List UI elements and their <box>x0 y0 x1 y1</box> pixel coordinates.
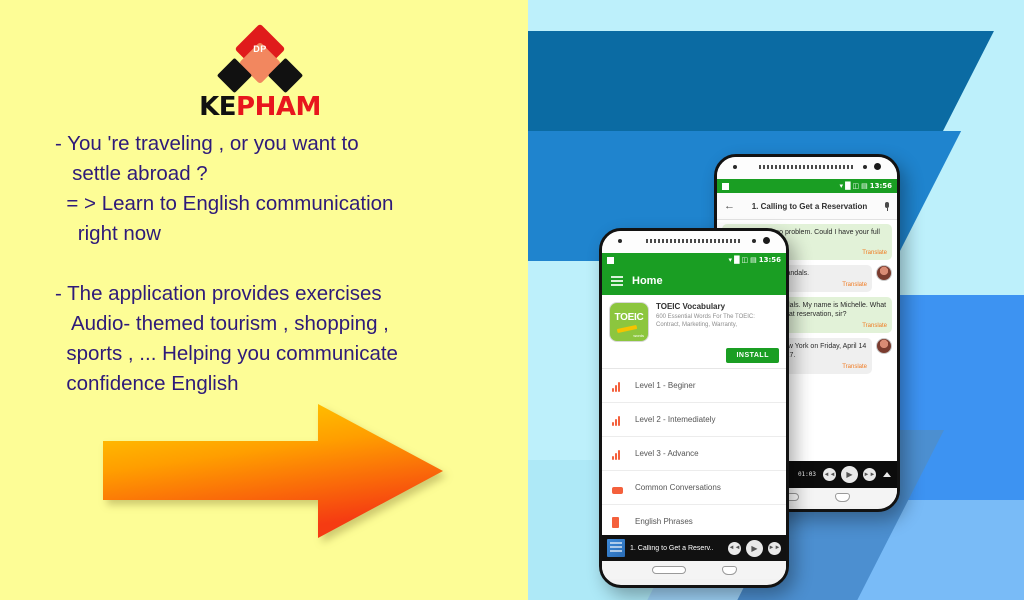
avatar <box>876 265 892 281</box>
list-item-level-2[interactable]: Level 2 - Intemediately <box>602 403 786 437</box>
bar-chart-icon <box>612 414 624 426</box>
promo-paragraph-1: - You 're traveling , or you want to set… <box>55 129 505 249</box>
proximity-sensor-icon <box>618 239 622 243</box>
list-item-common-conversations[interactable]: Common Conversations <box>602 471 786 505</box>
previous-icon[interactable]: ◄◄ <box>823 468 836 481</box>
bar-chart-icon <box>612 380 624 392</box>
list-item-label: Level 1 - Beginer <box>635 381 695 390</box>
app-icon-sublabel: words <box>633 333 644 338</box>
light-sensor-icon <box>863 165 867 169</box>
vibrate-icon: ◫ <box>741 257 748 264</box>
next-icon[interactable]: ►► <box>768 542 781 555</box>
proximity-sensor-icon <box>733 165 737 169</box>
previous-icon[interactable]: ◄◄ <box>728 542 741 555</box>
ad-card[interactable]: TOEIC words TOEIC Vocabulary 600 Essenti… <box>602 295 786 369</box>
book-icon <box>612 516 624 528</box>
hamburger-icon[interactable] <box>611 276 623 286</box>
home-screen: ▾ █ ◫ ▤ 13:56 Home TOEIC words <box>602 253 786 579</box>
list-item-level-3[interactable]: Level 3 - Advance <box>602 437 786 471</box>
phone-earpiece-area <box>717 157 897 179</box>
back-icon[interactable] <box>722 566 737 575</box>
chat-icon <box>612 482 624 494</box>
ad-description: 600 Essential Words For The TOEIC: Contr… <box>656 313 779 329</box>
list-item-label: Level 2 - Intemediately <box>635 415 716 424</box>
list-item-level-1[interactable]: Level 1 - Beginer <box>602 369 786 403</box>
list-item-english-phrases[interactable]: English Phrases <box>602 505 786 539</box>
signal-icon: █ <box>845 183 850 190</box>
toeic-app-icon: TOEIC words <box>609 302 649 342</box>
vibrate-icon: ◫ <box>852 183 859 190</box>
home-icon[interactable] <box>652 566 686 574</box>
back-arrow-icon[interactable]: ← <box>724 201 735 212</box>
signal-icon: █ <box>734 257 739 264</box>
page-title: Home <box>632 275 663 287</box>
front-camera-icon <box>763 237 770 244</box>
list-item-label: English Phrases <box>635 517 693 526</box>
list-item-label: Common Conversations <box>635 483 721 492</box>
chat-app-bar: ← 1. Calling to Get a Reservation <box>717 193 897 220</box>
battery-icon: ▤ <box>750 257 757 264</box>
play-icon[interactable]: ▶ <box>746 540 763 557</box>
brand-logo: DP KEPHAM <box>185 18 335 108</box>
speaker-grille <box>759 165 855 169</box>
avatar <box>876 338 892 354</box>
status-time: 13:56 <box>759 256 781 264</box>
wifi-icon: ▾ <box>840 183 844 190</box>
front-camera-icon <box>874 163 881 170</box>
android-nav-bar <box>602 561 786 579</box>
media-player-bar[interactable]: 1. Calling to Get a Reserv.. ◄◄ ▶ ►► <box>602 535 786 561</box>
player-time: 01:03 <box>798 471 816 478</box>
notification-icon <box>607 257 614 264</box>
phone-earpiece-area <box>602 231 786 253</box>
status-bar: ▾ █ ◫ ▤ 13:56 <box>717 179 897 193</box>
back-icon[interactable] <box>835 493 850 502</box>
speaker-grille <box>646 239 742 243</box>
ad-title: TOEIC Vocabulary <box>656 302 779 311</box>
logo-badge-text: DP <box>242 38 278 60</box>
light-sensor-icon <box>752 239 756 243</box>
play-icon[interactable]: ▶ <box>841 466 858 483</box>
promo-paragraph-2: - The application provides exercises Aud… <box>55 279 505 399</box>
left-content-panel: DP KEPHAM - You 're traveling , or you w… <box>0 0 528 600</box>
status-bar: ▾ █ ◫ ▤ 13:56 <box>602 253 786 267</box>
wifi-icon: ▾ <box>729 257 733 264</box>
microphone-icon[interactable] <box>884 202 890 211</box>
app-bar: Home <box>602 267 786 295</box>
status-time: 13:56 <box>870 182 892 190</box>
brand-name-part1: KE <box>199 92 236 122</box>
list-item-label: Level 3 - Advance <box>635 449 699 458</box>
brand-name-part2: PHAM <box>236 92 321 122</box>
notification-icon <box>722 183 729 190</box>
phone-mockup-home: ▾ █ ◫ ▤ 13:56 Home TOEIC words <box>599 228 789 588</box>
battery-icon: ▤ <box>861 183 868 190</box>
brand-name: KEPHAM <box>185 92 335 122</box>
track-title: 1. Calling to Get a Reserv.. <box>630 545 723 552</box>
next-icon[interactable]: ►► <box>863 468 876 481</box>
caret-up-icon[interactable] <box>883 472 891 477</box>
pencil-icon <box>617 325 637 333</box>
install-button[interactable]: INSTALL <box>726 348 779 363</box>
right-arrow-icon <box>103 399 443 539</box>
promo-banner: ▾ █ ◫ ▤ 13:56 ← 1. Calling to Get a Rese… <box>0 0 1024 600</box>
track-thumbnail <box>607 539 625 557</box>
bar-chart-icon <box>612 448 624 460</box>
chat-title: 1. Calling to Get a Reservation <box>742 202 877 211</box>
app-icon-label: TOEIC <box>610 312 648 323</box>
